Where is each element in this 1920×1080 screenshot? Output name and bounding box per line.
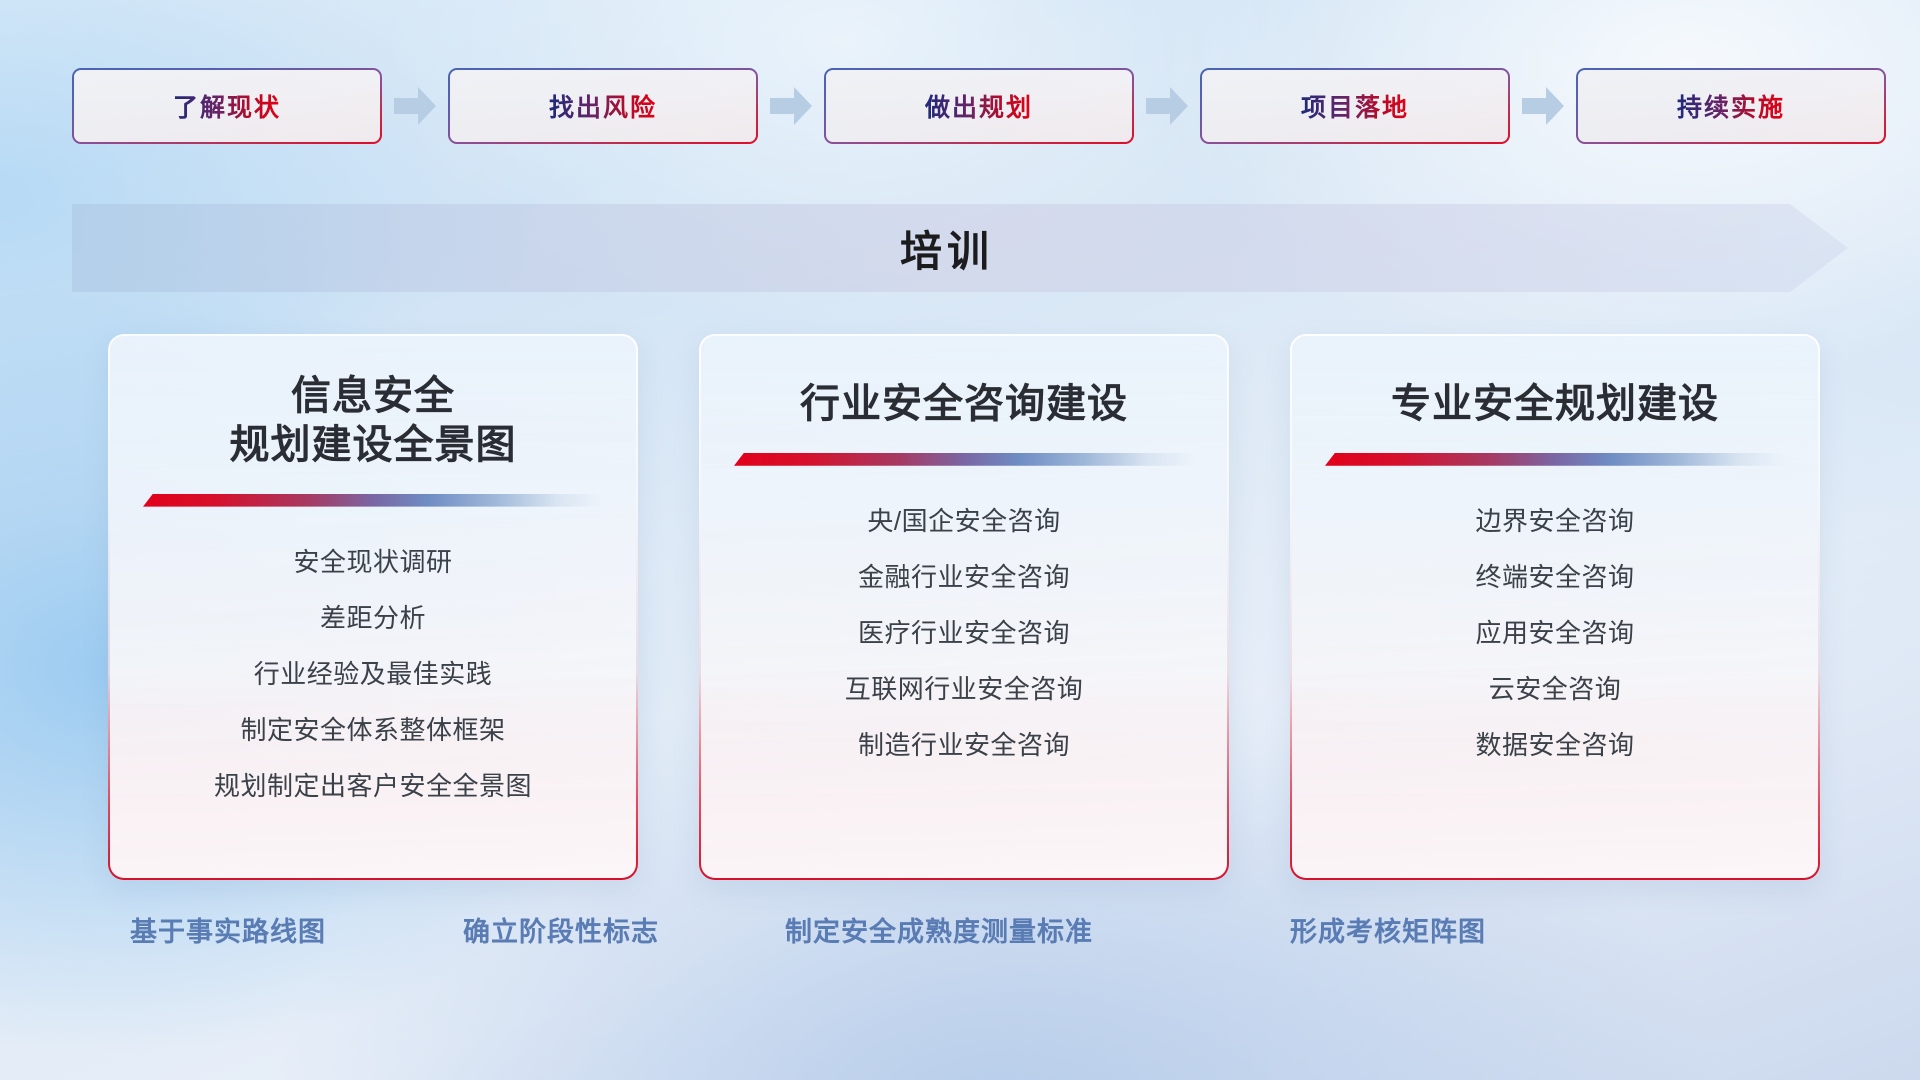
list-item: 安全现状调研 — [293, 537, 452, 587]
card-title: 行业安全咨询建设 — [800, 380, 1128, 429]
slide-canvas: 了解现状 找出风险 做出规划 — [0, 0, 1920, 1080]
card-list: 安全现状调研 差距分析 行业经验及最佳实践 制定安全体系整体框架 规划制定出客户… — [110, 537, 636, 811]
list-item: 差距分析 — [320, 593, 426, 643]
card-information-security-blueprint[interactable]: 信息安全 规划建设全景图 安全现状调研 差距分析 行业经验及最佳实践 制定安全体… — [108, 334, 638, 880]
list-item: 数据安全咨询 — [1475, 720, 1634, 770]
arrow-right-icon — [382, 68, 448, 144]
list-item: 应用安全咨询 — [1475, 608, 1634, 658]
banner-title: 培训 — [72, 204, 1848, 292]
training-banner: 培训 — [72, 204, 1848, 292]
caption-roadmap: 基于事实路线图 — [130, 910, 326, 949]
caption-row: 基于事实路线图 确立阶段性标志 制定安全成熟度测量标准 形成考核矩阵图 — [0, 910, 1920, 970]
card-list: 边界安全咨询 终端安全咨询 应用安全咨询 云安全咨询 数据安全咨询 — [1292, 496, 1818, 770]
process-step-4[interactable]: 项目落地 — [1200, 68, 1510, 144]
process-step-2[interactable]: 找出风险 — [448, 68, 758, 144]
process-step-1[interactable]: 了解现状 — [72, 68, 382, 144]
caption-assessment-matrix: 形成考核矩阵图 — [1290, 910, 1486, 949]
process-step-5[interactable]: 持续实施 — [1576, 68, 1886, 144]
process-step-label: 做出规划 — [925, 88, 1033, 124]
card-title: 专业安全规划建设 — [1391, 380, 1719, 429]
card-list: 央/国企安全咨询 金融行业安全咨询 医疗行业安全咨询 互联网行业安全咨询 制造行… — [701, 496, 1227, 770]
arrow-right-icon — [758, 68, 824, 144]
arrow-right-icon — [1510, 68, 1576, 144]
list-item: 云安全咨询 — [1489, 664, 1622, 714]
list-item: 规划制定出客户安全全景图 — [214, 761, 532, 811]
process-step-row: 了解现状 找出风险 做出规划 — [72, 68, 1848, 144]
caption-milestones: 确立阶段性标志 — [463, 910, 659, 949]
list-item: 互联网行业安全咨询 — [845, 664, 1084, 714]
process-step-label: 项目落地 — [1301, 88, 1409, 124]
list-item: 央/国企安全咨询 — [867, 496, 1060, 546]
list-item: 终端安全咨询 — [1475, 552, 1634, 602]
list-item: 金融行业安全咨询 — [858, 552, 1070, 602]
process-step-label: 持续实施 — [1677, 88, 1785, 124]
card-title: 信息安全 规划建设全景图 — [230, 372, 517, 470]
list-item: 医疗行业安全咨询 — [858, 608, 1070, 658]
list-item: 边界安全咨询 — [1475, 496, 1634, 546]
card-divider-rule — [734, 453, 1194, 466]
card-professional-security-planning[interactable]: 专业安全规划建设 边界安全咨询 终端安全咨询 应用安全咨询 云安全咨询 数据安全… — [1290, 334, 1820, 880]
process-step-label: 找出风险 — [549, 88, 657, 124]
card-divider-rule — [143, 494, 603, 507]
list-item: 行业经验及最佳实践 — [254, 649, 493, 699]
card-row: 信息安全 规划建设全景图 安全现状调研 差距分析 行业经验及最佳实践 制定安全体… — [108, 334, 1820, 880]
process-step-label: 了解现状 — [173, 88, 281, 124]
card-industry-security-consulting[interactable]: 行业安全咨询建设 央/国企安全咨询 金融行业安全咨询 医疗行业安全咨询 互联网行… — [699, 334, 1229, 880]
card-divider-rule — [1325, 453, 1785, 466]
process-step-3[interactable]: 做出规划 — [824, 68, 1134, 144]
list-item: 制造行业安全咨询 — [858, 720, 1070, 770]
arrow-right-icon — [1134, 68, 1200, 144]
caption-maturity-standard: 制定安全成熟度测量标准 — [785, 910, 1093, 949]
list-item: 制定安全体系整体框架 — [240, 705, 505, 755]
